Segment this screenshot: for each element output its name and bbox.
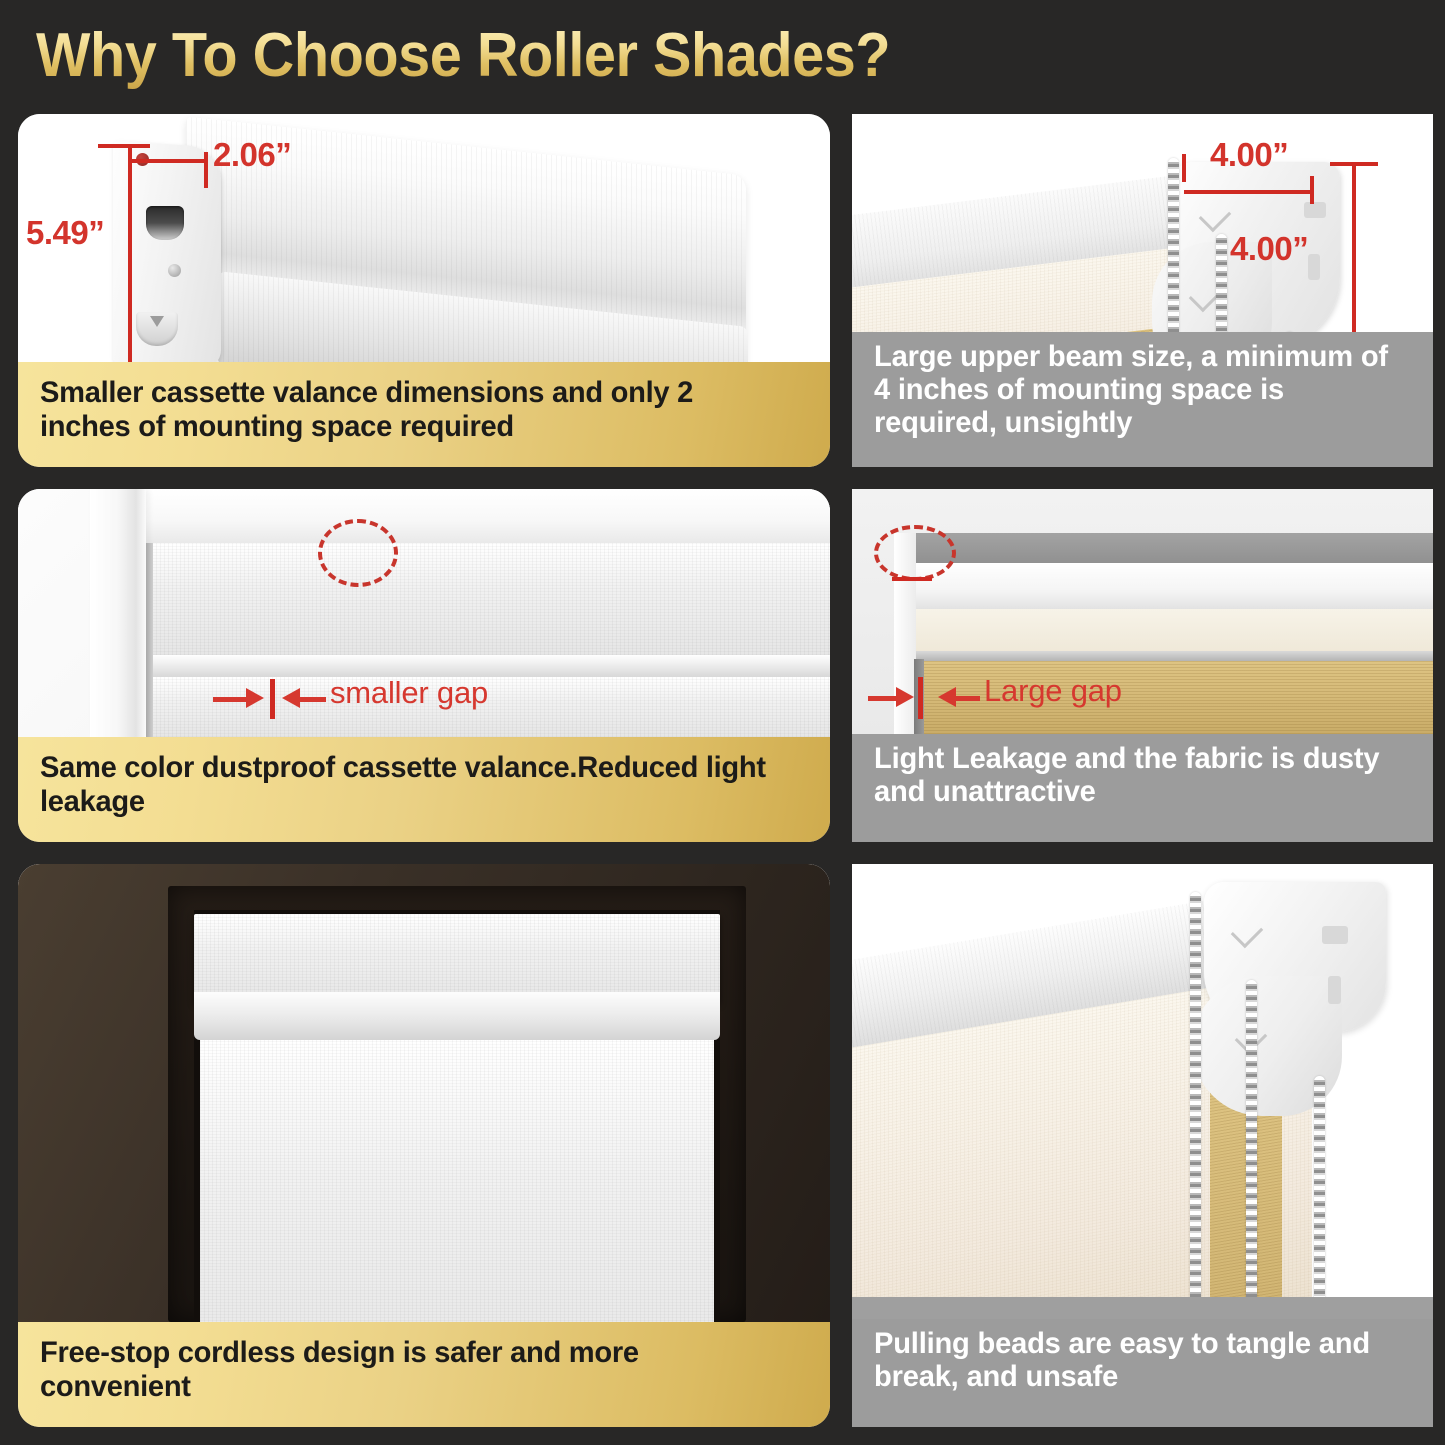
gap-arrow-left-tail [213, 697, 247, 702]
window-frame-top [128, 489, 830, 545]
light-leak-callout-line [892, 577, 932, 581]
panel-4-caption-text: Light Leakage and the fabric is dusty an… [874, 742, 1395, 808]
depth-dimension-tick-right [204, 152, 208, 188]
depth-dimension-label: 2.06” [213, 136, 291, 174]
cell-panel-2: 4.00” 4.00” Large upper beam size, a min… [848, 110, 1445, 485]
gap-arrow-right-head [938, 687, 956, 707]
valance-bottom-rail [914, 651, 1433, 661]
panel-5: Free-stop cordless design is safer and m… [18, 864, 830, 1427]
gap-arrow-left-tail [868, 696, 898, 701]
upper-beam-valance [914, 563, 1433, 615]
panel-5-caption: Free-stop cordless design is safer and m… [18, 1322, 830, 1427]
cell-panel-5: Free-stop cordless design is safer and m… [0, 860, 848, 1445]
panel-5-image [18, 864, 830, 1322]
bracket-notch-icon [1304, 202, 1326, 218]
gap-arrow-right-head [282, 688, 300, 708]
panel-3-image: smaller gap [18, 489, 830, 737]
height-dimension-label: 4.00” [1230, 230, 1308, 268]
page-title: Why To Choose Roller Shades? [36, 20, 890, 91]
width-dimension-tick-right [1310, 176, 1314, 204]
panel-2-caption: Large upper beam size, a minimum of 4 in… [852, 332, 1433, 467]
gap-marker-line [918, 677, 923, 719]
cassette-valance-face [148, 543, 830, 655]
panel-6: Pulling beads are easy to tangle and bre… [852, 864, 1433, 1427]
panel-4-image: Large gap [852, 489, 1433, 734]
end-cap-screw-icon [168, 264, 181, 277]
width-dimension-tick-left [1182, 154, 1186, 182]
panel-6-caption: Pulling beads are easy to tangle and bre… [852, 1319, 1433, 1427]
page-header: Why To Choose Roller Shades? [0, 0, 1445, 110]
shade-side-edge [146, 543, 153, 737]
height-dimension-line [1352, 162, 1356, 332]
height-dimension-line [128, 144, 132, 362]
light-leak-callout-ellipse [874, 525, 956, 581]
cell-panel-6: Pulling beads are easy to tangle and bre… [848, 860, 1445, 1445]
cell-panel-1: 5.49” 2.06” Smaller cassette valance dim… [0, 110, 848, 485]
depth-dimension-line [130, 159, 208, 163]
cassette-valance [194, 914, 720, 1002]
panel-4: Large gap Light Leakage and the fabric i… [852, 489, 1433, 842]
panel-5-caption-text: Free-stop cordless design is safer and m… [40, 1336, 785, 1404]
bead-chain-left [1190, 892, 1201, 1319]
gap-arrow-right-tail [300, 697, 326, 702]
panel-2-caption-text: Large upper beam size, a minimum of 4 in… [874, 340, 1395, 439]
bracket-notch-icon [1322, 926, 1348, 944]
panel-6-caption-text: Pulling beads are easy to tangle and bre… [874, 1327, 1395, 1393]
width-dimension-line [1184, 190, 1314, 194]
panel-1-image: 5.49” 2.06” [18, 114, 830, 362]
gap-arrow-right-tail [956, 696, 980, 701]
bead-chain-middle [1246, 980, 1257, 1319]
light-leak-callout-ellipse [318, 519, 398, 587]
comparison-grid: 5.49” 2.06” Smaller cassette valance dim… [0, 110, 1445, 1445]
gap-callout-label: Large gap [984, 673, 1122, 709]
panel-3-caption: Same color dustproof cassette valance.Re… [18, 737, 830, 842]
gap-arrow-left-head [896, 687, 914, 707]
panel-3-caption-text: Same color dustproof cassette valance.Re… [40, 751, 785, 819]
bead-chain-right [1314, 1076, 1325, 1319]
gap-marker-line [270, 679, 275, 719]
cell-panel-3: smaller gap Same color dustproof cassett… [0, 485, 848, 860]
panel-2-image: 4.00” 4.00” [852, 114, 1433, 332]
panel-3: smaller gap Same color dustproof cassett… [18, 489, 830, 842]
gap-callout-label: smaller gap [330, 675, 488, 711]
width-dimension-label: 4.00” [1210, 136, 1288, 174]
floor-shadow-band [852, 1297, 1433, 1319]
bracket-slot-icon [1328, 976, 1341, 1004]
roller-shade-fabric [200, 1040, 714, 1322]
gap-arrow-left-head [246, 688, 264, 708]
valance-lip [194, 992, 720, 1040]
panel-1-caption-text: Smaller cassette valance dimensions and … [40, 376, 785, 444]
panel-2: 4.00” 4.00” Large upper beam size, a min… [852, 114, 1433, 467]
cell-panel-4: Large gap Light Leakage and the fabric i… [848, 485, 1445, 860]
valance-lip [148, 655, 830, 677]
bead-chain-left [1168, 158, 1179, 332]
bead-chain-middle [1216, 234, 1227, 332]
height-dimension-tick-top [1330, 162, 1378, 166]
height-dimension-tick-top [98, 144, 150, 148]
valance-lower-face [914, 609, 1433, 653]
end-cap-slot-icon [146, 206, 184, 240]
panel-1-caption: Smaller cassette valance dimensions and … [18, 362, 830, 467]
window-frame-left [90, 489, 146, 737]
panel-4-caption: Light Leakage and the fabric is dusty an… [852, 734, 1433, 842]
height-dimension-label: 5.49” [26, 214, 104, 252]
panel-6-image [852, 864, 1433, 1319]
panel-1: 5.49” 2.06” Smaller cassette valance dim… [18, 114, 830, 467]
bracket-slot-icon [1308, 254, 1320, 280]
